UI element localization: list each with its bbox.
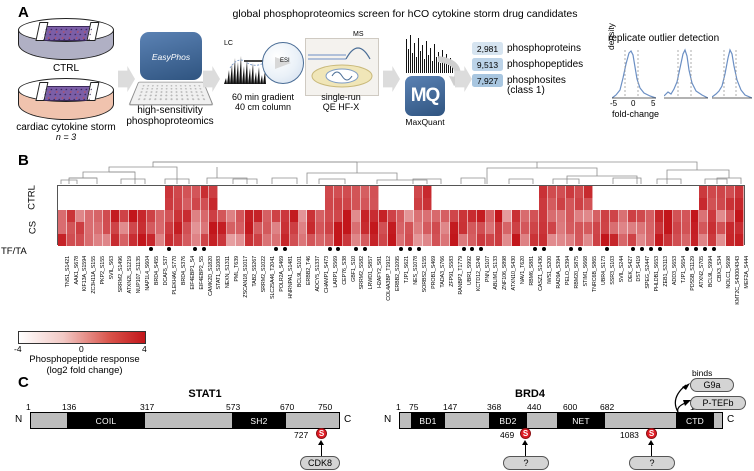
esi-label: ESI <box>280 58 290 64</box>
brd4-domain-bd1: BD1 <box>411 413 445 428</box>
colorbar-tick-min: -4 <box>14 344 22 354</box>
heatmap-cell <box>147 186 156 198</box>
heatmap-column-label: STIM1_S668 <box>583 256 589 286</box>
heatmap-cell <box>619 198 628 210</box>
dish-rim-ctrl <box>18 18 114 42</box>
heatmap-cell <box>503 222 512 234</box>
brd4-phosphosite-469-position: 469 <box>500 430 514 440</box>
heatmap-column-label: TAB2_S5267 <box>252 256 258 287</box>
tfta-dot <box>479 247 483 251</box>
heatmap-cell <box>254 210 263 222</box>
heatmap-column-label: KMT2C_S4300/4343 <box>735 256 741 305</box>
tfta-dot <box>167 247 171 251</box>
heatmap-cell <box>85 222 94 234</box>
panel-a-title: global phosphoproteomics screen for hCO … <box>170 8 640 20</box>
density-xtick-min: -5 <box>610 99 617 108</box>
tfta-dot <box>685 247 689 251</box>
heatmap-cell <box>664 210 673 222</box>
heatmap-cell <box>85 186 94 198</box>
brd4-res-600: 600 <box>563 402 577 412</box>
heatmap-cell <box>361 186 370 198</box>
tfta-dot-row <box>57 245 745 254</box>
heatmap-column-label: KIF13A_S1594 <box>82 256 88 291</box>
heatmap-cell <box>76 198 85 210</box>
heatmap-cell <box>512 222 521 234</box>
heatmap-cell <box>183 198 192 210</box>
heatmap-cell <box>584 210 593 222</box>
panel-a: A global phosphoproteomics screen for hC… <box>0 0 754 140</box>
brd4-phosphosite-s469: S <box>520 428 531 439</box>
heatmap-cell <box>120 222 129 234</box>
heatmap-cell <box>699 186 708 198</box>
heatmap-cell <box>343 222 352 234</box>
stat1-kinase-arrow-line <box>321 444 322 456</box>
density-xlabel: fold-change <box>612 109 659 119</box>
heatmap-column-label: LARP1_S569 <box>333 256 339 288</box>
heatmap-cell <box>673 210 682 222</box>
heatmap-cell <box>325 186 334 198</box>
heatmap-cell <box>361 222 370 234</box>
heatmap-cell <box>58 198 67 210</box>
heatmap-cell <box>441 222 450 234</box>
heatmap-column-label: ADD3_S653 <box>672 256 678 285</box>
heatmap-cell <box>468 198 477 210</box>
heatmap-cell <box>735 210 744 222</box>
heatmap-cell <box>646 210 655 222</box>
heatmap-cell <box>486 198 495 210</box>
heatmap-cell <box>218 222 227 234</box>
heatmap-cell <box>610 222 619 234</box>
heatmap-cell <box>201 222 210 234</box>
stat-chip-phosphoproteins: 2,981 <box>472 42 503 55</box>
heatmap-cell <box>263 186 272 198</box>
heatmap-cell <box>361 210 370 222</box>
heatmap-column-label: NES_S1078 <box>413 256 419 285</box>
heatmap-column-label: DST_S419 <box>636 256 642 282</box>
heatmap-cell <box>610 210 619 222</box>
heatmap-cell <box>165 222 174 234</box>
heatmap-cell <box>459 186 468 198</box>
heatmap-cell <box>708 210 717 222</box>
heatmap-cell <box>673 186 682 198</box>
heatmap-cell <box>610 198 619 210</box>
brd4-phosphosite-s1083: S <box>646 428 657 439</box>
heatmap-row-cs <box>58 222 744 234</box>
brd4-binder-ptefb: P-TEFb <box>690 396 746 410</box>
maxquant-logo-text: MQ <box>411 85 440 107</box>
heatmap-cell <box>174 210 183 222</box>
heatmap-column-label: UBR4_S173 <box>601 256 607 285</box>
heatmap-cell <box>530 222 539 234</box>
brd4-binder-ptefb-label: P-TEFb <box>702 398 733 408</box>
heatmap-column-label: TJP1_S621 <box>404 256 410 283</box>
mass-spectrometer-schematic <box>305 38 379 96</box>
heatmap-cell <box>717 198 726 210</box>
heatmap-column-label: ERBB2_T46 <box>306 256 312 285</box>
heatmap-cell <box>539 186 548 198</box>
heatmap-cell <box>450 210 459 222</box>
heatmap-cell <box>423 186 432 198</box>
heatmap-cell <box>521 186 530 198</box>
brd4-res-1: 1 <box>396 402 401 412</box>
heatmap-cell <box>263 222 272 234</box>
colorbar <box>18 331 146 344</box>
heatmap-cell <box>548 198 557 210</box>
heatmap-cell <box>370 198 379 210</box>
heatmap-column-label: UBR1_S992 <box>467 256 473 285</box>
heatmap-cell <box>414 210 423 222</box>
heatmap-cell <box>575 198 584 210</box>
density-plot-rep3 <box>712 48 752 102</box>
heatmap-cell <box>459 210 468 222</box>
heatmap-cell <box>129 198 138 210</box>
heatmap-cell <box>307 198 316 210</box>
heatmap-cell <box>236 198 245 210</box>
heatmap-cell <box>272 210 281 222</box>
heatmap-cell <box>726 198 735 210</box>
heatmap-cell <box>129 222 138 234</box>
heatmap-cell <box>263 198 272 210</box>
heatmap-cell <box>379 210 388 222</box>
heatmap-column-label: ABLIM1_S133 <box>493 256 499 290</box>
heatmap-cell <box>664 222 673 234</box>
heatmap-cell <box>495 198 504 210</box>
heatmap-cell <box>566 210 575 222</box>
tfta-dot <box>694 247 698 251</box>
heatmap-cell <box>521 222 530 234</box>
heatmap-cell <box>103 210 112 222</box>
heatmap-cell <box>245 222 254 234</box>
heatmap-column-label: H2AFY2_S81 <box>377 256 383 288</box>
heatmap-cell <box>343 198 352 210</box>
heatmap-cell <box>201 186 210 198</box>
ms-label: MS <box>353 31 364 38</box>
heatmap-column-label: NUP107_S1135 <box>136 256 142 293</box>
heatmap-cell <box>628 222 637 234</box>
heatmap-cell <box>263 210 272 222</box>
heatmap-column-label: ADCY5_S1337 <box>315 256 321 291</box>
heatmap-cell <box>165 186 174 198</box>
heatmap-cell <box>218 198 227 210</box>
colorbar-tick-max: 4 <box>142 344 147 354</box>
heatmap-cell <box>103 186 112 198</box>
brd4-1083-arrow-head <box>648 440 654 445</box>
heatmap-cell <box>726 210 735 222</box>
row-group-label-ctrl: CTRL <box>27 184 38 212</box>
heatmap-cell <box>307 222 316 234</box>
lc-label: LC <box>224 40 233 47</box>
heatmap-cell <box>111 210 120 222</box>
heatmap-cell <box>530 210 539 222</box>
tfta-dot <box>328 247 332 251</box>
heatmap-cell <box>147 222 156 234</box>
panel-b-letter: B <box>18 152 29 169</box>
heatmap-cell <box>682 186 691 198</box>
tfta-dot <box>274 247 278 251</box>
heatmap-column-label: ATXN2L_S1219 <box>127 256 133 293</box>
density-svg-3 <box>712 48 752 100</box>
heatmap-cell <box>156 210 165 222</box>
heatmap-cell <box>619 222 628 234</box>
row-group-label-cs: CS <box>28 217 39 239</box>
heatmap-cell <box>575 210 584 222</box>
heatmap-cell <box>111 222 120 234</box>
tfta-dot <box>283 247 287 251</box>
heatmap-cell <box>370 186 379 198</box>
stat1-c-terminus: C <box>344 414 351 425</box>
brd4-469-arrow-line <box>525 444 526 456</box>
heatmap-cell <box>245 210 254 222</box>
tfta-dot <box>399 247 403 251</box>
heatmap-cell <box>85 198 94 210</box>
heatmap-cell <box>272 222 281 234</box>
density-svg-2 <box>664 48 708 100</box>
heatmap-cell <box>459 198 468 210</box>
heatmap-column-label: BRD4_S455 <box>154 256 160 285</box>
heatmap-cell <box>245 186 254 198</box>
stat1-kinase-cdk8: CDK8 <box>300 456 340 470</box>
heatmap-cell <box>67 186 76 198</box>
stat1-domain-coil: COIL <box>67 413 145 428</box>
brd4-kinase-1083: ? <box>629 456 675 470</box>
heatmap-cell <box>76 186 85 198</box>
heatmap-cell <box>192 198 201 210</box>
organoid-cells-cs <box>42 87 93 100</box>
heatmap-cell <box>646 222 655 234</box>
heatmap-cell <box>58 210 67 222</box>
heatmap-cell <box>352 222 361 234</box>
heatmap-row-cs <box>58 210 744 222</box>
heatmap-cell <box>316 222 325 234</box>
heatmap-cell <box>192 210 201 222</box>
heatmap-cell <box>147 198 156 210</box>
ctrl-dish-label: CTRL <box>0 63 136 74</box>
heatmap-cell <box>58 186 67 198</box>
brd4-res-440: 440 <box>527 402 541 412</box>
heatmap-cell <box>245 198 254 210</box>
heatmap-cell <box>94 186 103 198</box>
heatmap-column-label: BCL9L_S994 <box>708 256 714 287</box>
heatmap-cell <box>103 198 112 210</box>
heatmap-cell <box>548 186 557 198</box>
heatmap-cell <box>539 222 548 234</box>
heatmap-cell <box>566 198 575 210</box>
heatmap-column-label: POLR2A_S469 <box>279 256 285 292</box>
density-title: replicate outlier detection <box>608 33 719 44</box>
heatmap-column-label: EIF4EBP1_S4 <box>190 256 196 290</box>
heatmap-cell <box>423 198 432 210</box>
heatmap-column-label: MEF2A_S444 <box>744 256 750 289</box>
heatmap-cell <box>575 222 584 234</box>
heatmap-cell <box>601 186 610 198</box>
heatmap-column-label: PDS5B_S1129 <box>690 256 696 291</box>
heatmap-cell <box>299 198 308 210</box>
stat-value-phosphoproteins: 2,981 <box>477 44 498 54</box>
flow-arrow-3 <box>383 66 400 92</box>
heatmap-cell <box>138 186 147 198</box>
heatmap-cell <box>299 186 308 198</box>
heatmap-cell <box>468 210 477 222</box>
heatmap-cell <box>477 210 486 222</box>
heatmap-cell <box>521 210 530 222</box>
stat-sublabel-phosphosites: (class 1) <box>507 85 545 96</box>
heatmap-cell <box>637 210 646 222</box>
heatmap-cell <box>512 186 521 198</box>
heatmap-cell <box>593 210 602 222</box>
heatmap-cell <box>290 210 299 222</box>
heatmap-cell <box>503 210 512 222</box>
heatmap-cell <box>120 186 129 198</box>
heatmap-column-label: SVIL_S63 <box>109 256 115 279</box>
tfta-dot <box>202 247 206 251</box>
heatmap-cell <box>691 210 700 222</box>
brd4-kinase-1083-label: ? <box>649 458 654 468</box>
heatmap-column-label: RANBP2_T1779 <box>458 256 464 295</box>
stat1-domain-sh2: SH2 <box>232 413 286 428</box>
heatmap-cell <box>281 198 290 210</box>
organoid-cells-ctrl <box>42 27 93 40</box>
heatmap-cell <box>58 222 67 234</box>
heatmap-cell <box>67 198 76 210</box>
heatmap-cell <box>432 186 441 198</box>
heatmap-cell <box>601 198 610 210</box>
heatmap-column-label: CHAMP1_S473 <box>324 256 330 293</box>
heatmap-cell <box>209 186 218 198</box>
heatmap-cell <box>281 186 290 198</box>
heatmap-cell <box>708 222 717 234</box>
heatmap-cell <box>664 186 673 198</box>
tfta-dot <box>363 247 367 251</box>
heatmap-column-label: CEP76_S38 <box>342 256 348 285</box>
heatmap-cell <box>227 186 236 198</box>
heatmap-column-label: RBM6_S881 <box>529 256 535 286</box>
heatmap-cell <box>94 198 103 210</box>
heatmap-cell <box>459 222 468 234</box>
heatmap-cell <box>156 186 165 198</box>
stat-chip-phosphopeptides: 9,513 <box>472 58 503 71</box>
heatmap-cell <box>726 222 735 234</box>
heatmap-column-label: COL4A3BP_T1912 <box>386 256 392 301</box>
heatmap-column-label: ZNF106_S898 <box>502 256 508 290</box>
heatmap-cell <box>174 222 183 234</box>
heatmap-cell <box>691 186 700 198</box>
heatmap-cell <box>379 198 388 210</box>
heatmap-cell <box>441 198 450 210</box>
heatmap-column-label: PKP2_S155 <box>100 256 106 284</box>
heatmap-cell <box>557 186 566 198</box>
heatmap-column-labels: TNS1_S1421AAK1_S678KIF13A_S1594ZC3H11A_S… <box>57 256 745 330</box>
heatmap-row-ctrl <box>58 198 744 210</box>
stat1-kinase-label: CDK8 <box>308 458 332 468</box>
tfta-dot <box>408 247 412 251</box>
heatmap-column-label: SRRM2_S582 <box>359 256 365 289</box>
tfta-dot <box>462 247 466 251</box>
heatmap-cell <box>343 186 352 198</box>
heatmap-cell <box>735 198 744 210</box>
heatmap-column-label: SVIL_S244 <box>619 256 625 282</box>
heatmap-cell <box>708 198 717 210</box>
heatmap-cell <box>530 198 539 210</box>
heatmap-cell <box>637 222 646 234</box>
heatmap-cell <box>174 198 183 210</box>
brd4-domain-net-label: NET <box>572 416 590 426</box>
brd4-res-147: 147 <box>443 402 457 412</box>
tfta-dot <box>712 247 716 251</box>
heatmap-cell <box>290 198 299 210</box>
heatmap-cell <box>655 198 664 210</box>
brd4-binding-arrows <box>660 378 696 416</box>
stat1-res-136: 136 <box>62 402 76 412</box>
heatmap-cell <box>397 186 406 198</box>
heatmap-cell <box>209 222 218 234</box>
heatmap-cell <box>236 222 245 234</box>
heatmap-cell <box>307 210 316 222</box>
heatmap-cell <box>120 198 129 210</box>
heatmap[interactable] <box>57 185 745 245</box>
density-xtick-max: 5 <box>651 99 655 108</box>
heatmap-cell <box>664 198 673 210</box>
maxquant-name: MaxQuant <box>398 117 452 127</box>
brd4-1083-arrow-line <box>651 444 652 456</box>
heatmap-column-label: BRD4_S376 <box>181 256 187 285</box>
brd4-kinase-469-label: ? <box>523 458 528 468</box>
heatmap-cell <box>673 222 682 234</box>
heatmap-cell <box>352 210 361 222</box>
heatmap-cell <box>646 186 655 198</box>
heatmap-cell <box>388 222 397 234</box>
heatmap-cell <box>691 198 700 210</box>
heatmap-cell <box>67 222 76 234</box>
brd4-res-682: 682 <box>600 402 614 412</box>
density-svg-1 <box>612 48 656 100</box>
heatmap-cell <box>593 222 602 234</box>
heatmap-cell <box>94 210 103 222</box>
heatmap-cell <box>557 198 566 210</box>
brd4-domain-bd1-label: BD1 <box>419 416 436 426</box>
heatmap-column-label: HNRNPA1_S1481 <box>288 256 294 299</box>
heatmap-cell <box>120 210 129 222</box>
heatmap-cell <box>272 198 281 210</box>
density-ylabel: density <box>606 23 616 50</box>
heatmap-cell <box>548 222 557 234</box>
heatmap-cell <box>441 186 450 198</box>
heatmap-cell <box>352 186 361 198</box>
stat1-n-terminus: N <box>15 414 22 425</box>
heatmap-cell <box>530 186 539 198</box>
heatmap-column-label: ERBB2_S1095 <box>395 256 401 291</box>
heatmap-cell <box>174 186 183 198</box>
heatmap-cell <box>316 198 325 210</box>
tfta-dot <box>470 247 474 251</box>
heatmap-cell <box>334 222 343 234</box>
stat1-res-670: 670 <box>280 402 294 412</box>
stat1-title: STAT1 <box>60 388 350 400</box>
heatmap-cell <box>254 222 263 234</box>
heatmap-cell <box>138 198 147 210</box>
heatmap-column-label: BCL9L_S101 <box>297 256 303 287</box>
heatmap-cell <box>218 186 227 198</box>
tfta-dot <box>649 247 653 251</box>
brd4-n-terminus: N <box>384 414 391 425</box>
heatmap-cell <box>628 198 637 210</box>
ms-internals <box>306 39 378 95</box>
heatmap-cell <box>699 222 708 234</box>
heatmap-cell <box>450 222 459 234</box>
heatmap-cell <box>584 222 593 234</box>
heatmap-cell <box>379 186 388 198</box>
brd4-c-terminus: C <box>727 414 734 425</box>
heatmap-cell <box>352 198 361 210</box>
